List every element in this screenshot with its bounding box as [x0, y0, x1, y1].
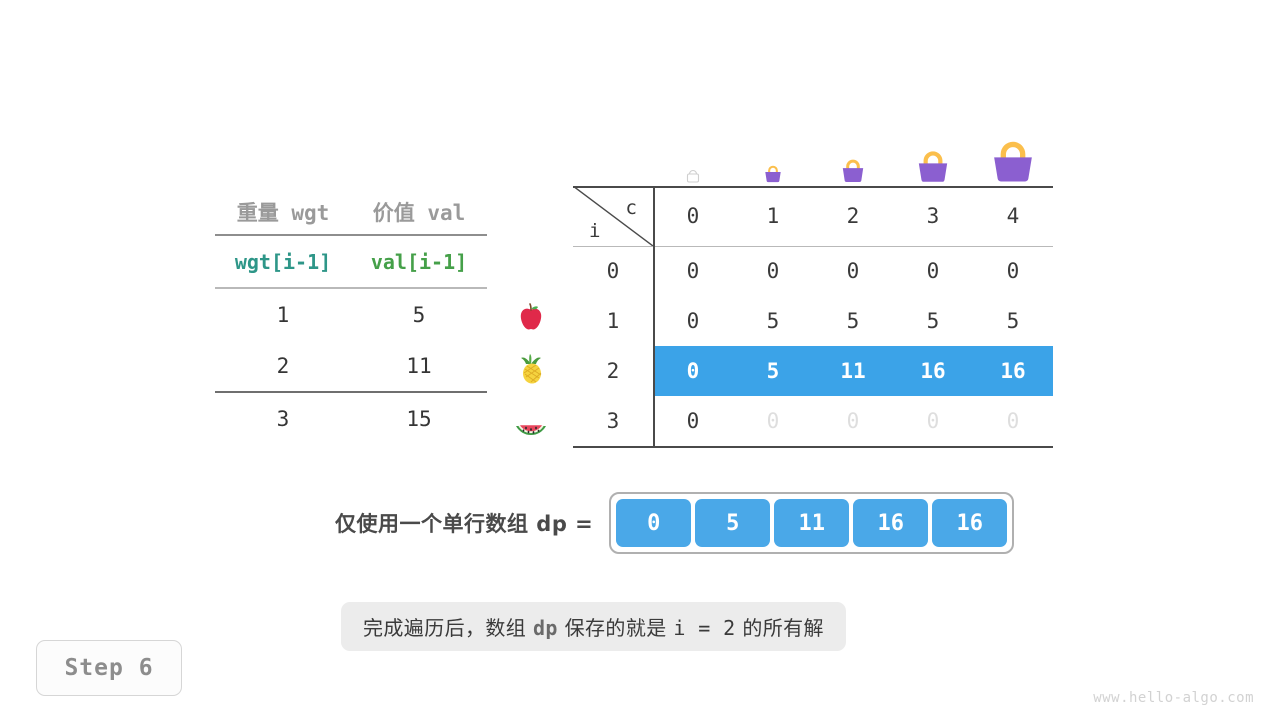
table-row: 3 0 0 0 0 0 — [573, 396, 1053, 446]
item-val-cell: 11 — [351, 340, 487, 392]
fruit-icon-column — [508, 292, 554, 445]
item-table-subheader-row: wgt[i-1] val[i-1] — [215, 235, 487, 288]
item-weight-value-table: 重量 wgt 价值 val wgt[i-1] val[i-1] 1 5 2 11 — [215, 190, 487, 444]
bag-size-1-icon — [733, 158, 813, 186]
dp-row-index: 3 — [573, 396, 653, 446]
dp-corner-row-label: i — [589, 220, 600, 242]
item-wgt-cell: 2 — [215, 340, 351, 392]
caption-text: 完成遍历后，数组 dp 保存的就是 i = 2 的所有解 — [341, 602, 846, 651]
dp-array-cell: 16 — [932, 499, 1007, 547]
caption-emphasis: dp — [533, 616, 558, 640]
caption-part-2: 保存的就是 — [558, 616, 674, 640]
bag-empty-icon — [653, 166, 733, 186]
item-wgt-cell: 3 — [215, 392, 351, 444]
dp-cell: 16 — [893, 346, 973, 396]
dp-array-container: 0 5 11 16 16 — [609, 492, 1014, 554]
dp-cell: 0 — [973, 246, 1053, 296]
dp-cell: 5 — [733, 296, 813, 346]
item-table-subheader-val: val[i-1] — [351, 235, 487, 288]
item-table-head: 重量 wgt 价值 val wgt[i-1] val[i-1] — [215, 190, 487, 288]
dp-array-label: 仅使用一个单行数组 dp = — [335, 508, 593, 538]
diagram-canvas: 重量 wgt 价值 val wgt[i-1] val[i-1] 1 5 2 11 — [0, 0, 1280, 720]
item-val-cell: 5 — [351, 288, 487, 340]
dp-corner-col-label: c — [626, 197, 637, 219]
dp-col-header-2: 2 — [813, 186, 893, 246]
table-row: 2 11 — [215, 340, 487, 392]
bag-size-2-icon — [813, 152, 893, 186]
item-val-cell: 15 — [351, 392, 487, 444]
dp-col-header-4: 4 — [973, 186, 1053, 246]
table-row: 1 5 — [215, 288, 487, 340]
dp-cell: 0 — [653, 296, 733, 346]
table-row: 1 0 5 5 5 5 — [573, 296, 1053, 346]
item-table-subheader-wgt: wgt[i-1] — [215, 235, 351, 288]
caption-expression: i = 2 — [673, 616, 735, 640]
dp-cell: 5 — [893, 296, 973, 346]
bag-size-3-icon — [893, 144, 973, 186]
dp-array-cell: 16 — [853, 499, 928, 547]
dp-cell: 16 — [973, 346, 1053, 396]
pineapple-icon — [508, 343, 554, 394]
dp-cell: 5 — [733, 346, 813, 396]
dp-cell: 11 — [813, 346, 893, 396]
dp-row-index: 2 — [573, 346, 653, 396]
caption-part-1: 完成遍历后，数组 — [363, 616, 533, 640]
dp-cell: 0 — [733, 246, 813, 296]
dp-row-index: 0 — [573, 246, 653, 296]
dp-body-bottom-rule — [573, 446, 1053, 448]
table-row: 0 0 0 0 0 0 — [573, 246, 1053, 296]
dp-cell: 0 — [973, 396, 1053, 446]
dp-cell: 5 — [813, 296, 893, 346]
bag-size-4-icon — [973, 134, 1053, 186]
dp-cell: 0 — [813, 246, 893, 296]
dp-cell: 0 — [733, 396, 813, 446]
step-badge: Step 6 — [36, 640, 182, 696]
dp-cell: 0 — [653, 346, 733, 396]
dp-array-cell: 5 — [695, 499, 770, 547]
item-table-body: 1 5 2 11 3 15 — [215, 288, 487, 444]
item-table-grid: 重量 wgt 价值 val wgt[i-1] val[i-1] 1 5 2 11 — [215, 190, 487, 444]
dp-cell: 0 — [653, 246, 733, 296]
table-row: 3 15 — [215, 392, 487, 444]
watermark: www.hello-algo.com — [1093, 690, 1254, 706]
dp-col-header-1: 1 — [733, 186, 813, 246]
watermelon-icon — [508, 394, 554, 445]
dp-array-cell: 0 — [616, 499, 691, 547]
corner-diagonal-icon — [573, 186, 653, 246]
item-table-header-val: 价值 val — [351, 190, 487, 235]
dp-col-header-0: 0 — [653, 186, 733, 246]
item-table-header-row: 重量 wgt 价值 val — [215, 190, 487, 235]
table-row: 2 0 5 11 16 16 — [573, 346, 1053, 396]
caption-part-3: 的所有解 — [736, 616, 824, 640]
dp-col-header-3: 3 — [893, 186, 973, 246]
dp-cell: 5 — [973, 296, 1053, 346]
dp-array-cell: 11 — [774, 499, 849, 547]
dp-cell: 0 — [893, 246, 973, 296]
bag-capacity-icon-row — [653, 118, 1053, 186]
dp-single-array-section: 仅使用一个单行数组 dp = 0 5 11 16 16 — [335, 492, 1014, 554]
dp-cell: 0 — [813, 396, 893, 446]
item-table-header-wgt: 重量 wgt — [215, 190, 351, 235]
dp-row-index: 1 — [573, 296, 653, 346]
item-wgt-cell: 1 — [215, 288, 351, 340]
dp-cell: 0 — [893, 396, 973, 446]
apple-icon — [508, 292, 554, 343]
dp-corner-cell: c i — [573, 186, 653, 246]
dp-cell: 0 — [653, 396, 733, 446]
